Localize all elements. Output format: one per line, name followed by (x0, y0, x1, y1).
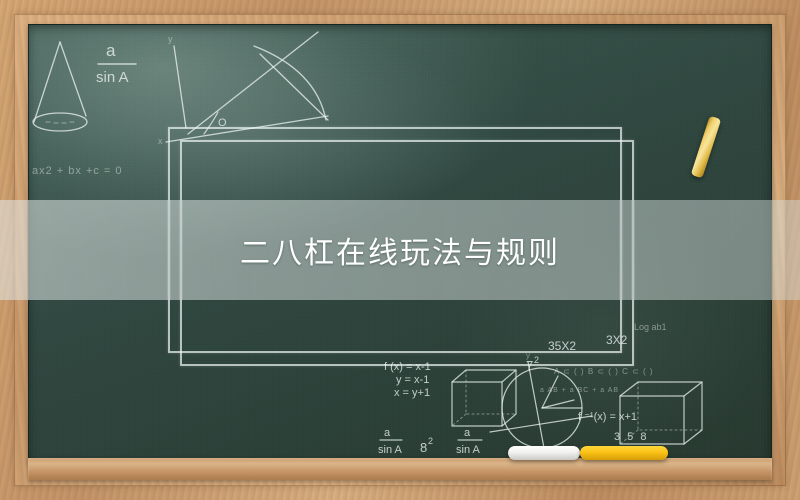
chalk-set-notation: A ⊂ ( ) B ⊂ ( ) C ⊂ ( ) (554, 367, 654, 376)
chalk-small-equation: a AB + a BC + a AB (540, 387, 619, 394)
chalk-frac3-den: sin A (456, 444, 481, 456)
chalk-log-label: Log ab1 (634, 322, 667, 332)
chalk-matrix-row1: 3 5 8 (614, 431, 648, 443)
title-overlay-band: 二八杠在线玩法与规则 (0, 200, 800, 300)
chalk-inverse-fn: f ⁻¹(x) = x+1 (578, 411, 637, 423)
chalkboard-banner: a sin A y x O ax2 + bx +c = 0 f (0, 0, 800, 500)
chalk-power-exponent: 2 (428, 436, 433, 446)
yellow-chalk-stick-floating (691, 116, 722, 179)
chalk-fraction-denominator: sin A (96, 69, 129, 86)
yellow-chalk-stick-tray (580, 446, 668, 460)
chalk-frac3-num: a (464, 427, 471, 439)
chalk-axis-label-x: x (158, 136, 163, 146)
chalk-fn-line2: y = x-1 (396, 374, 429, 386)
chalk-frac2-den: sin A (378, 444, 403, 456)
chalk-fn-line3: x = y+1 (394, 387, 430, 399)
page-title: 二八杠在线玩法与规则 (240, 228, 560, 272)
chalk-frac2-num: a (384, 427, 391, 439)
white-chalk-stick (508, 446, 580, 460)
chalk-axis-label-y: y (168, 34, 173, 44)
chalk-power-label: 8 (420, 440, 427, 455)
chalk-tray (28, 458, 772, 480)
chalk-fraction-numerator: a (106, 41, 116, 60)
chalk-quadratic-equation: ax2 + bx +c = 0 (32, 165, 123, 177)
